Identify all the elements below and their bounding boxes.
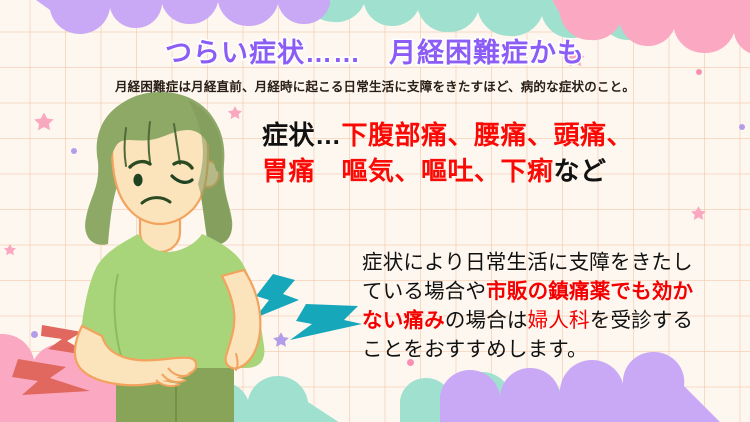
- subtitle-description: 月経困難症は月経直前、月経時に起こる日常生活に支障をきたすほど、病的な症状のこと…: [0, 76, 750, 95]
- star-pink-right-mid: [690, 205, 707, 222]
- symptoms-block: 症状…下腹部痛、腰痛、頭痛、 胃痛 嘔気、嘔吐、下痢など: [262, 118, 732, 190]
- advice-part1: 症状により日常生活に支障をきた: [362, 251, 672, 274]
- symptoms-label: 症状…: [262, 120, 342, 150]
- poster-canvas: つらい症状…… 月経困難症かも 月経困難症は月経直前、月経時に起こる日常生活に支…: [0, 0, 750, 422]
- symptoms-line2-red: 胃痛 嘔気、嘔吐、下痢: [262, 156, 554, 186]
- symptoms-line-2: 胃痛 嘔気、嘔吐、下痢など: [262, 154, 732, 190]
- symptoms-line1-red: 下腹部痛、腰痛、頭痛、: [342, 120, 634, 150]
- page-title: つらい症状…… 月経困難症かも: [0, 31, 750, 70]
- symptoms-line2-tail: など: [554, 156, 607, 186]
- advice-part7: を: [590, 309, 611, 332]
- eye-left-open: [133, 174, 142, 186]
- symptoms-line-1: 症状…下腹部痛、腰痛、頭痛、: [262, 118, 732, 154]
- dot-purple-far-right: [739, 124, 745, 130]
- advice-block: 症状により日常生活に支障をきたしている場合や市販の鎮痛薬でも効かない痛みの場合は…: [362, 248, 712, 364]
- star-pink-bottom-left: [3, 243, 17, 257]
- advice-part6-red: 婦人科: [528, 309, 590, 332]
- advice-part5: の場合は: [445, 309, 528, 332]
- advice-part3-bold-red: 市販の鎮痛薬でも: [486, 280, 652, 303]
